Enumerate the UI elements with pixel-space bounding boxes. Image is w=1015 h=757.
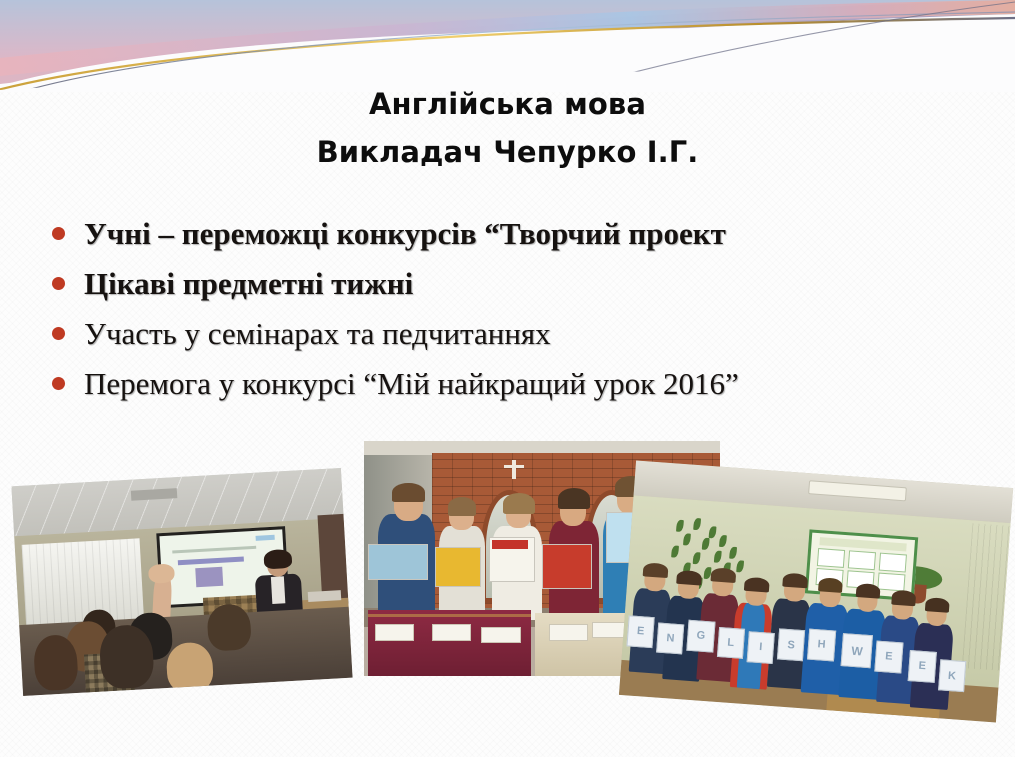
letter-card: K	[938, 660, 967, 692]
letter-card: E	[908, 650, 937, 682]
letter-card: H	[807, 629, 836, 661]
photo-collage: E N G L I S H W E E K	[0, 0, 1015, 757]
letter-card: E	[626, 615, 655, 647]
letter-card: E	[875, 641, 904, 673]
letter-card: I	[746, 631, 775, 663]
english-week-photo: E N G L I S H W E E K	[619, 460, 1013, 722]
slide-canvas: Англійська мова Викладач Чепурко І.Г. Уч…	[0, 0, 1015, 757]
letter-card: W	[841, 634, 874, 669]
letter-card: N	[656, 622, 685, 654]
letter-card: G	[687, 620, 716, 652]
classroom-lesson-photo	[11, 468, 352, 696]
letter-card: L	[716, 627, 745, 659]
letter-card: S	[777, 629, 806, 661]
